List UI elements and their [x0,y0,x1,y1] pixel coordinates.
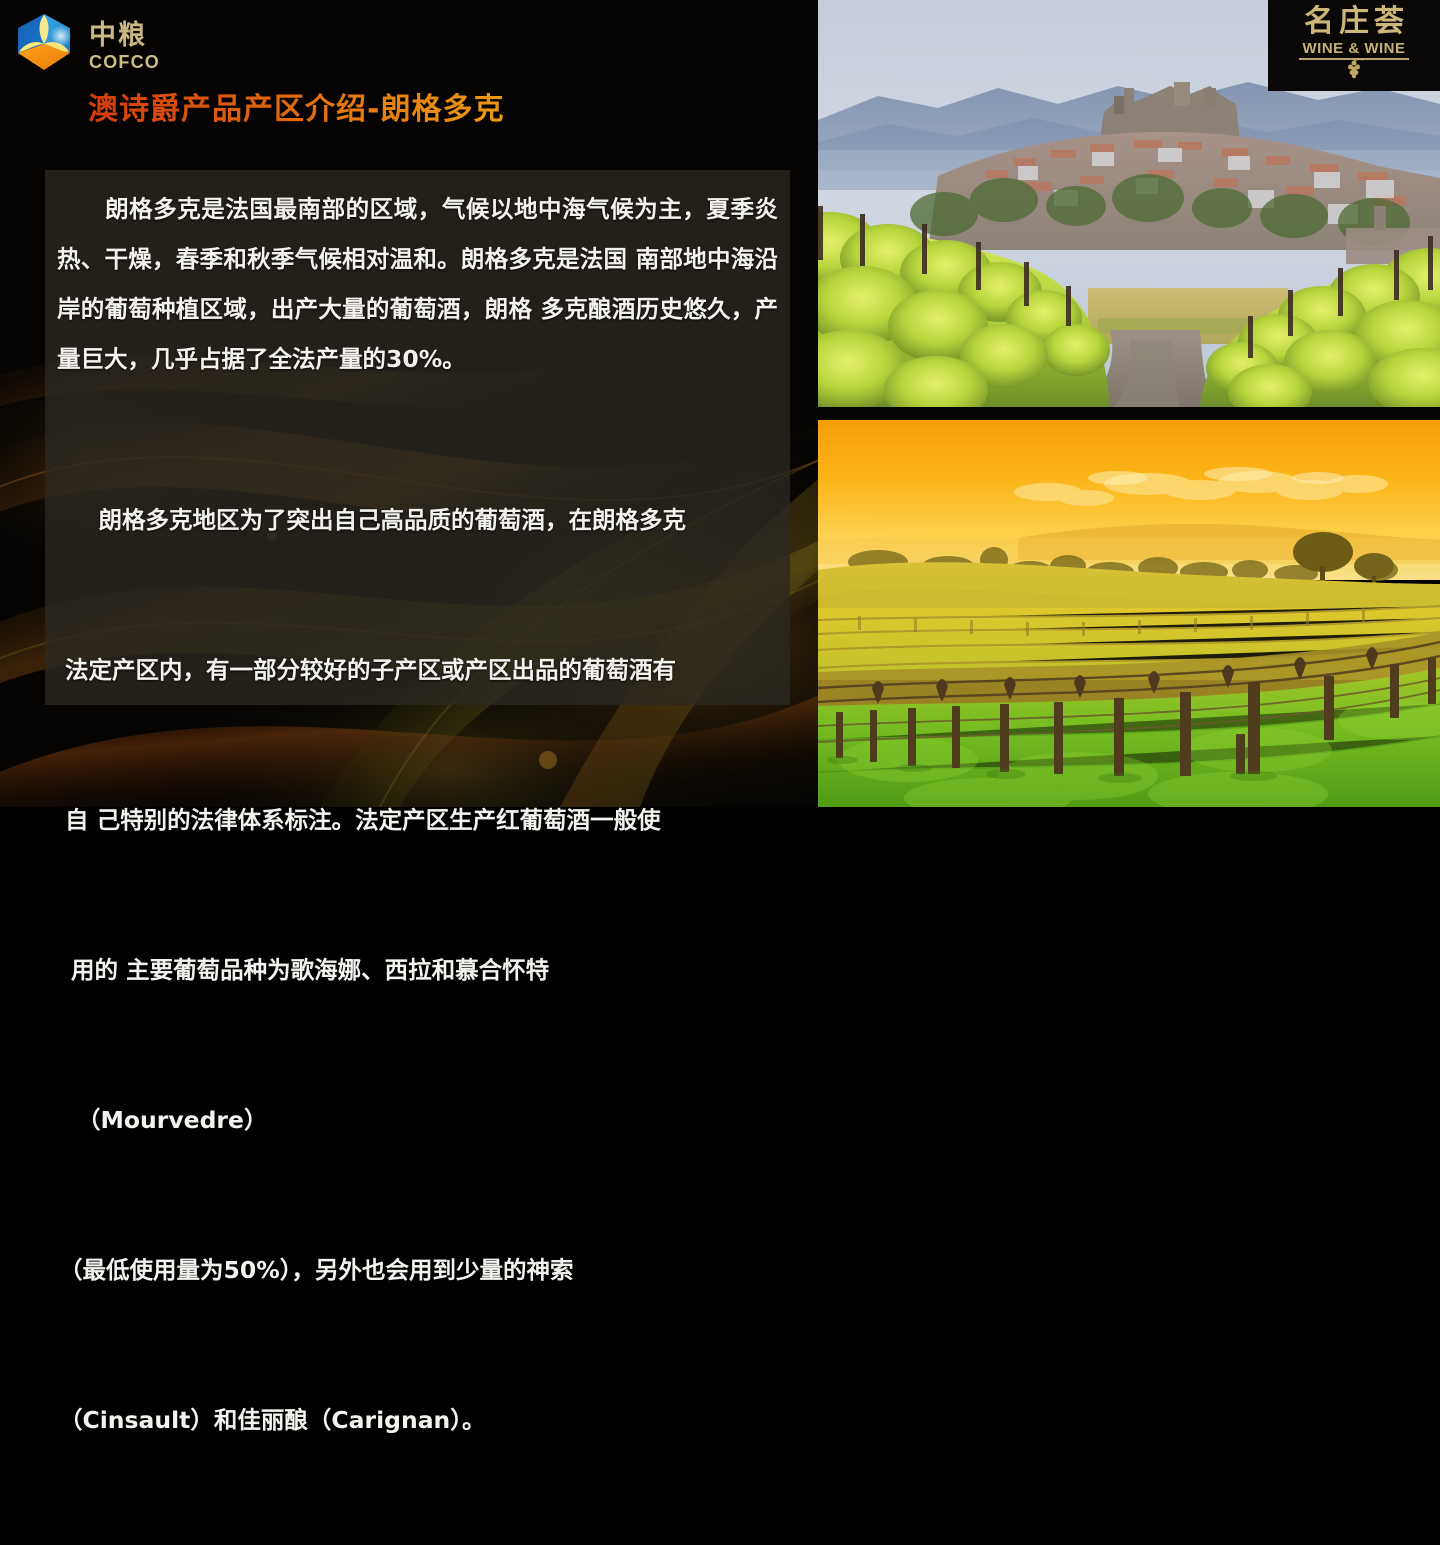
page-title: 澳诗爵产品产区介绍-朗格多克 [88,84,504,128]
paragraph-2-line: （Mourvedre） [49,1095,784,1145]
cofco-brand-lockup: 中粮 COFCO [8,8,160,80]
paragraph-2-line: 用的 主要葡萄品种为歌海娜、西拉和慕合怀特 [49,945,784,995]
paragraph-2: 朗格多克地区为了突出自己高品质的葡萄酒，在朗格多克 法定产区内，有一部分较好的子… [49,395,784,1545]
body-text-panel: 朗格多克是法国最南部的区域，气候以地中海气候为主，夏季炎热、干燥，春季和秋季气候… [45,170,790,705]
wine-logo-name-en: WINE & WINE [1303,41,1406,56]
paragraph-2-line: （最低使用量为50%），另外也会用到少量的神索 [49,1245,784,1295]
paragraph-2-line: 朗格多克地区为了突出自己高品质的葡萄酒，在朗格多克 [49,495,784,545]
grape-cluster-icon [1341,59,1367,84]
cofco-cube-icon [8,8,80,80]
brand-name-en: COFCO [89,53,160,71]
paragraph-1: 朗格多克是法国最南部的区域，气候以地中海气候为主，夏季炎热、干燥，春季和秋季气候… [49,184,784,384]
paragraph-2-line: 法定产区内，有一部分较好的子产区或产区出品的葡萄酒有 [49,645,784,695]
wine-and-wine-logo: 名庄荟 WINE & WINE [1268,0,1440,91]
photo-vineyard-sunset [818,420,1440,807]
paragraph-2-line: （Cinsault）和佳丽酿（Carignan）。 [49,1395,784,1445]
wine-logo-name-cn: 名庄荟 [1299,7,1409,37]
paragraph-2-line: 自 己特别的法律体系标注。法定产区生产红葡萄酒一般使 [49,795,784,845]
brand-name-cn: 中粮 [89,22,160,49]
